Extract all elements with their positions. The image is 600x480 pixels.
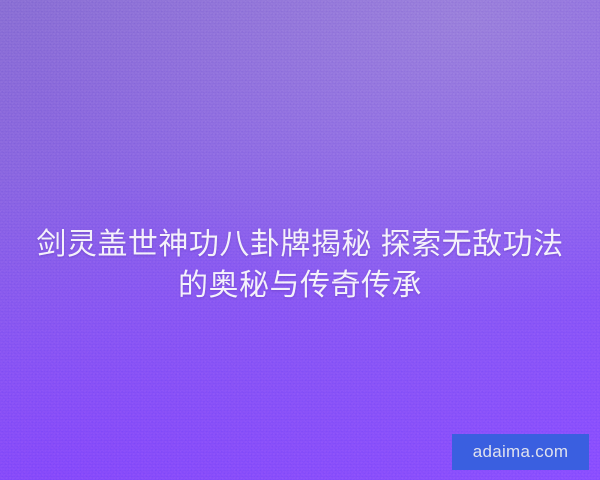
headline-title: 剑灵盖世神功八卦牌揭秘 探索无敌功法 的奥秘与传奇传承 (0, 224, 600, 306)
cover-image: 剑灵盖世神功八卦牌揭秘 探索无敌功法 的奥秘与传奇传承 adaima.com (0, 0, 600, 480)
watermark-label: adaima.com (473, 442, 569, 462)
watermark-badge: adaima.com (452, 434, 589, 470)
